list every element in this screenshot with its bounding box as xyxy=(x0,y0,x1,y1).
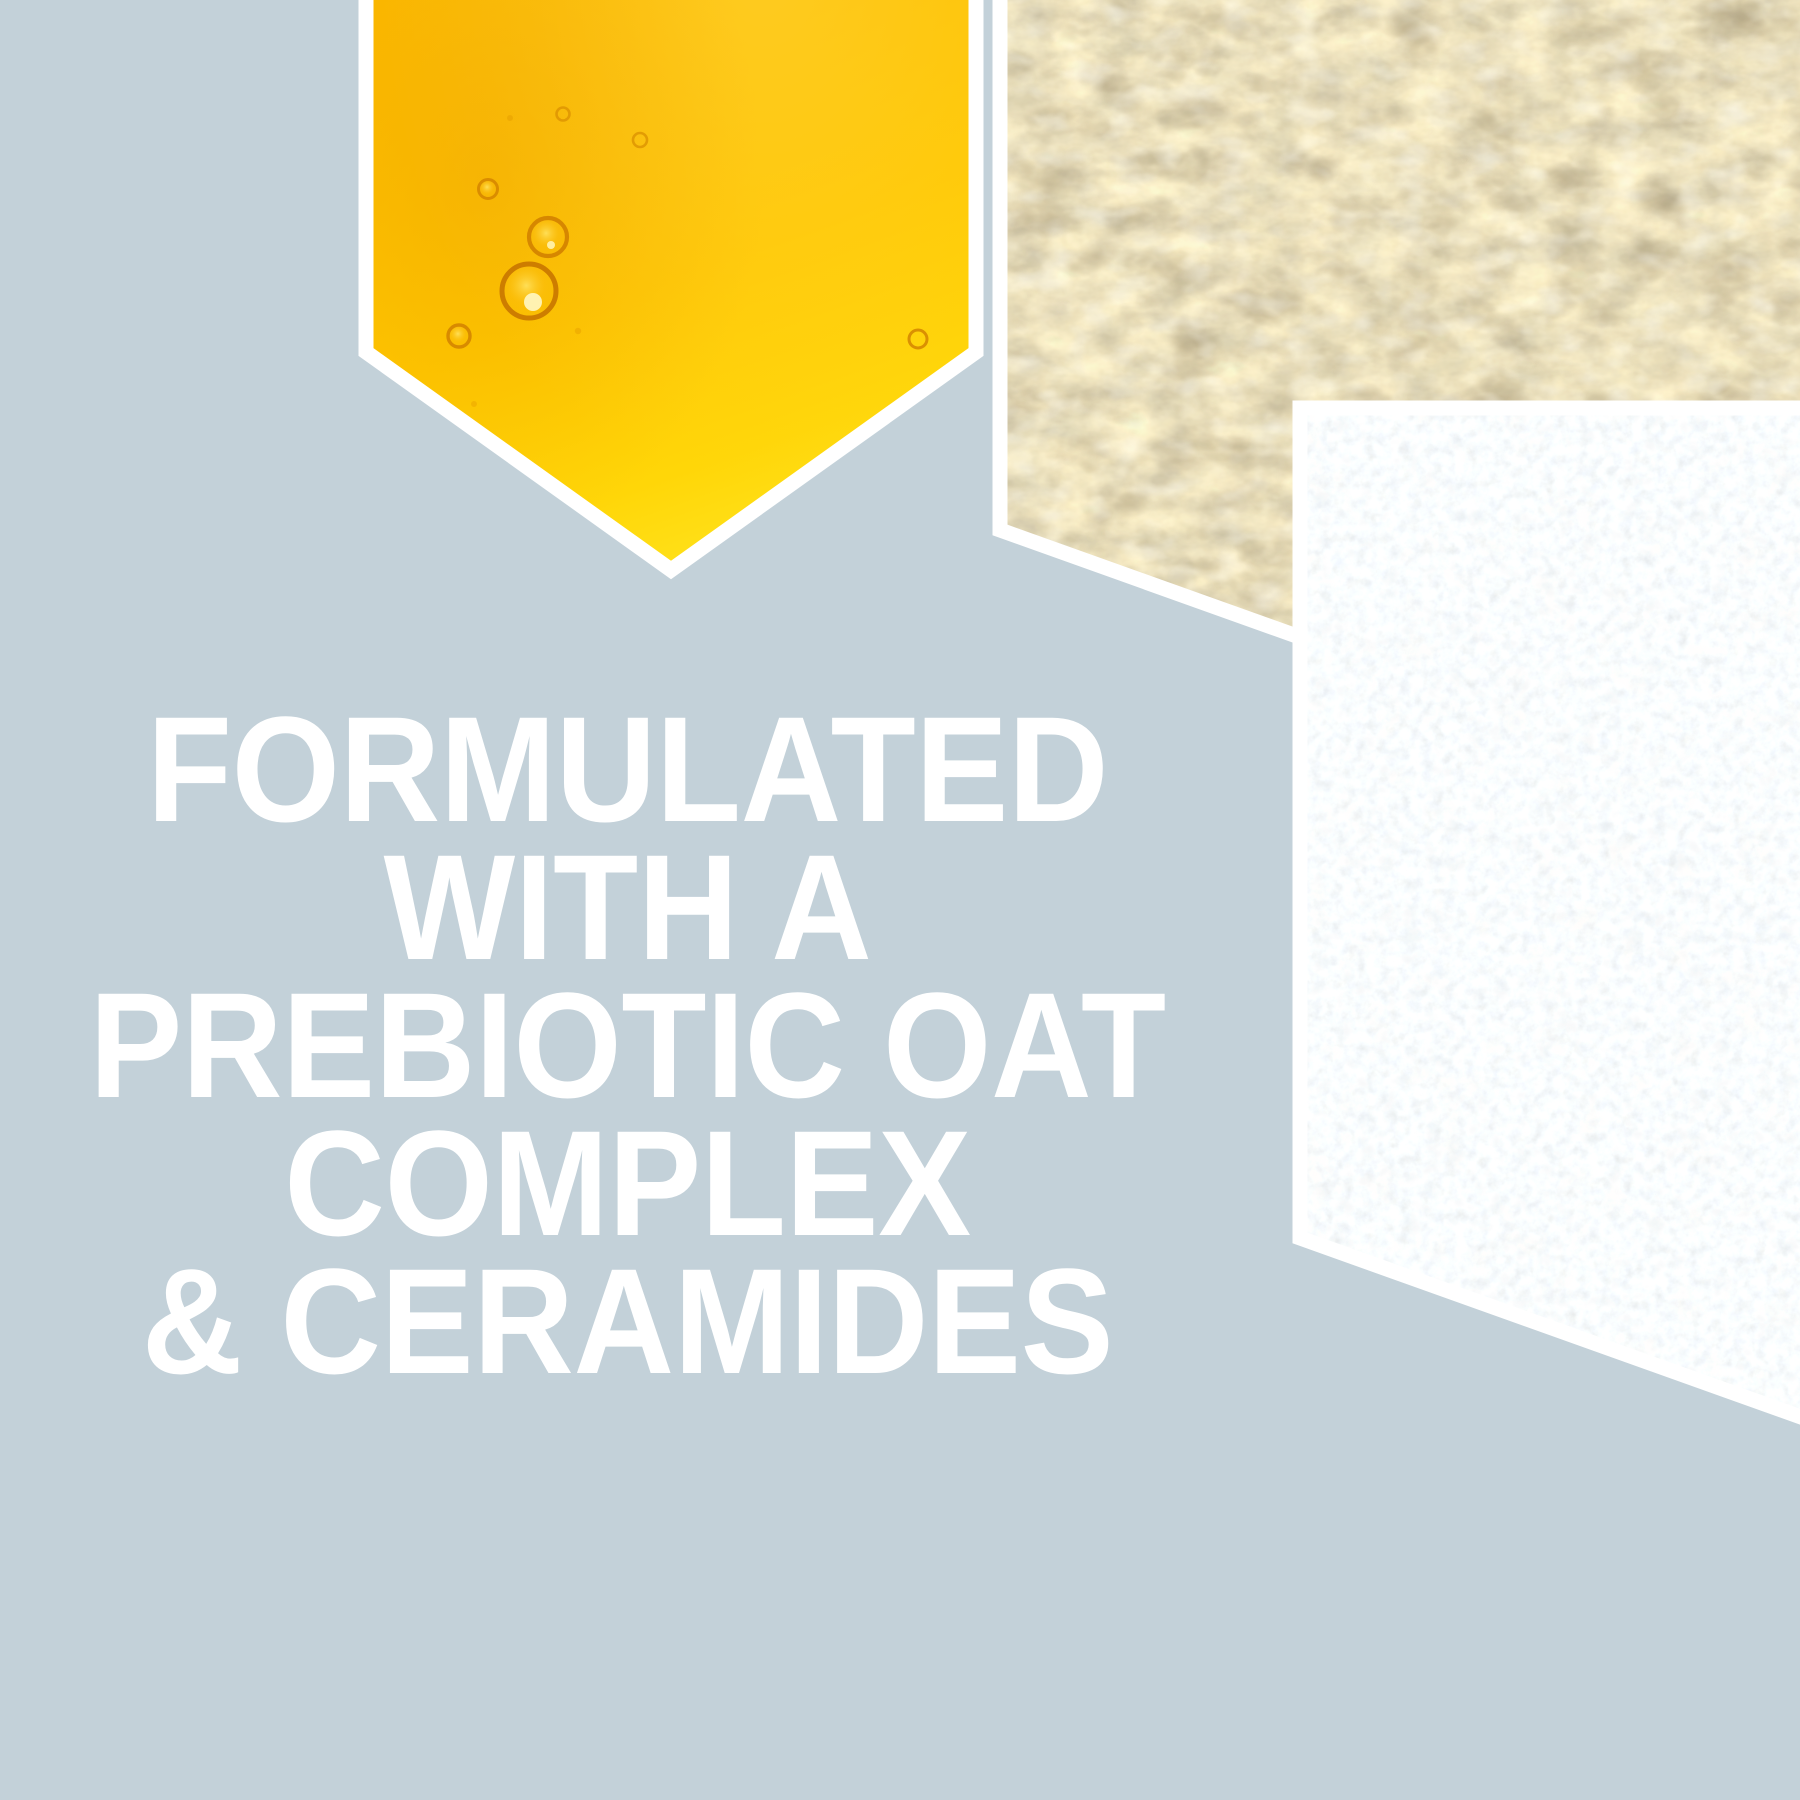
page-headline: FORMULATED WITH A PREBIOTIC OAT COMPLEX … xyxy=(0,700,1255,1390)
headline-line-4: COMPLEX xyxy=(44,1114,1211,1252)
headline-line-3: PREBIOTIC OAT xyxy=(44,976,1211,1114)
headline-line-2: WITH A xyxy=(44,838,1211,976)
marketing-banner: FORMULATED WITH A PREBIOTIC OAT COMPLEX … xyxy=(0,0,1800,1800)
headline-line-5: & CERAMIDES xyxy=(44,1252,1211,1390)
ceramide-powder-hexagon-tile xyxy=(1280,390,1800,1480)
oil-hexagon-tile xyxy=(330,0,1030,620)
headline-line-1: FORMULATED xyxy=(44,700,1211,838)
